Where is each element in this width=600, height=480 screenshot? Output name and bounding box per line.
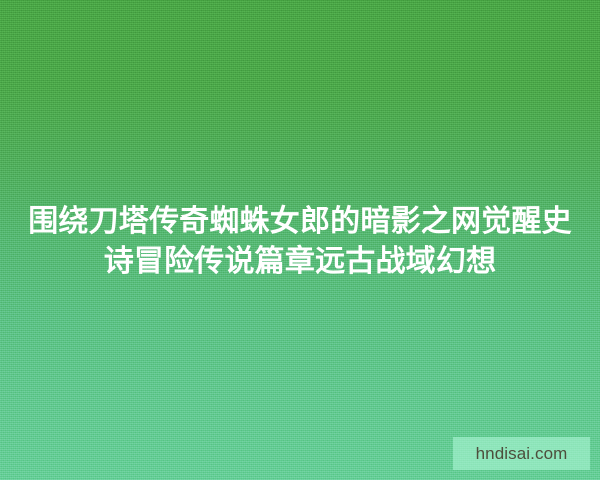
- watermark-badge: hndisai.com: [453, 437, 590, 470]
- headline-line-2: 诗冒险传说篇章远古战域幻想: [14, 242, 586, 282]
- headline-block: 围绕刀塔传奇蜘蛛女郎的暗影之网觉醒史 诗冒险传说篇章远古战域幻想: [0, 202, 600, 282]
- watermark-domain-label: hndisai.com: [476, 445, 568, 462]
- headline-line-1: 围绕刀塔传奇蜘蛛女郎的暗影之网觉醒史: [14, 202, 586, 242]
- image-card-canvas: 围绕刀塔传奇蜘蛛女郎的暗影之网觉醒史 诗冒险传说篇章远古战域幻想 hndisai…: [0, 0, 600, 480]
